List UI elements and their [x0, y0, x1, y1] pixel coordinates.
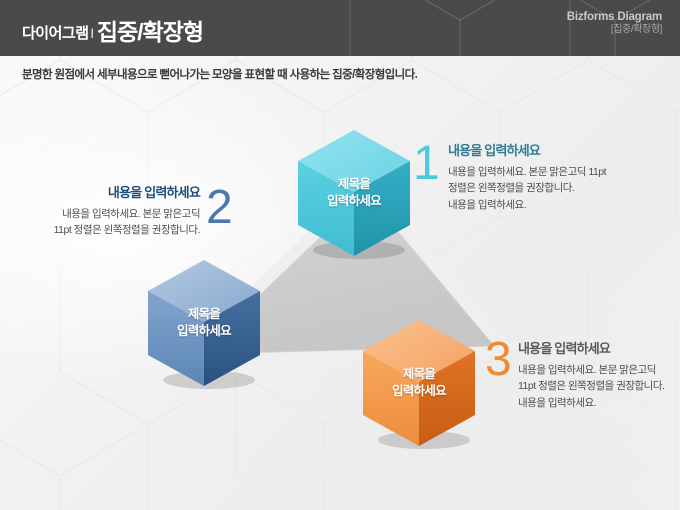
cube-1[interactable]: 제목을 입력하세요 — [295, 128, 413, 260]
item-1-body-line-2: 정렬은 왼쪽정렬을 권장합니다. — [448, 180, 606, 196]
item-3-number: 3 — [485, 336, 512, 384]
item-1-text-block[interactable]: 1 내용을 입력하세요 내용을 입력하세요. 본문 맑은고딕 11pt 정렬은 … — [448, 140, 606, 213]
item-3-body-line-3: 내용을 입력하세요. — [518, 395, 664, 411]
item-1-number: 1 — [413, 140, 440, 188]
item-3-body: 내용을 입력하세요. 본문 맑은고딕 11pt 정렬은 왼쪽정렬을 권장합니다.… — [518, 362, 664, 411]
item-3-body-line-1: 내용을 입력하세요. 본문 맑은고딕 — [518, 362, 664, 378]
item-2-body-line-1: 내용을 입력하세요. 본문 맑은고딕 — [20, 206, 200, 222]
item-1-body-line-3: 내용을 입력하세요. — [448, 197, 606, 213]
item-2-body: 내용을 입력하세요. 본문 맑은고딕 11pt 정렬은 왼쪽정렬을 권장합니다. — [20, 206, 200, 239]
item-2-number: 2 — [206, 184, 233, 232]
item-2-text-block[interactable]: 2 내용을 입력하세요 내용을 입력하세요. 본문 맑은고딕 11pt 정렬은 … — [20, 182, 200, 239]
item-3-text-block[interactable]: 3 내용을 입력하세요 내용을 입력하세요. 본문 맑은고딕 11pt 정렬은 … — [518, 338, 664, 411]
cube-3[interactable]: 제목을 입력하세요 — [360, 318, 478, 450]
slide-canvas: 다이어그램ǀ집중/확장형 Bizforms Diagram [집중/확장형] 분… — [0, 0, 680, 510]
item-2-heading: 내용을 입력하세요 — [20, 182, 200, 201]
item-1-heading: 내용을 입력하세요 — [448, 140, 606, 159]
item-3-heading: 내용을 입력하세요 — [518, 338, 664, 357]
item-3-body-line-2: 11pt 정렬은 왼쪽정렬을 권장합니다. — [518, 378, 664, 394]
cube-2[interactable]: 제목을 입력하세요 — [145, 258, 263, 390]
item-2-body-line-2: 11pt 정렬은 왼쪽정렬을 권장합니다. — [20, 222, 200, 238]
diagram-stage: 제목을 입력하세요 — [0, 0, 680, 510]
item-1-body-line-1: 내용을 입력하세요. 본문 맑은고딕 11pt — [448, 164, 606, 180]
item-1-body: 내용을 입력하세요. 본문 맑은고딕 11pt 정렬은 왼쪽정렬을 권장합니다.… — [448, 164, 606, 213]
